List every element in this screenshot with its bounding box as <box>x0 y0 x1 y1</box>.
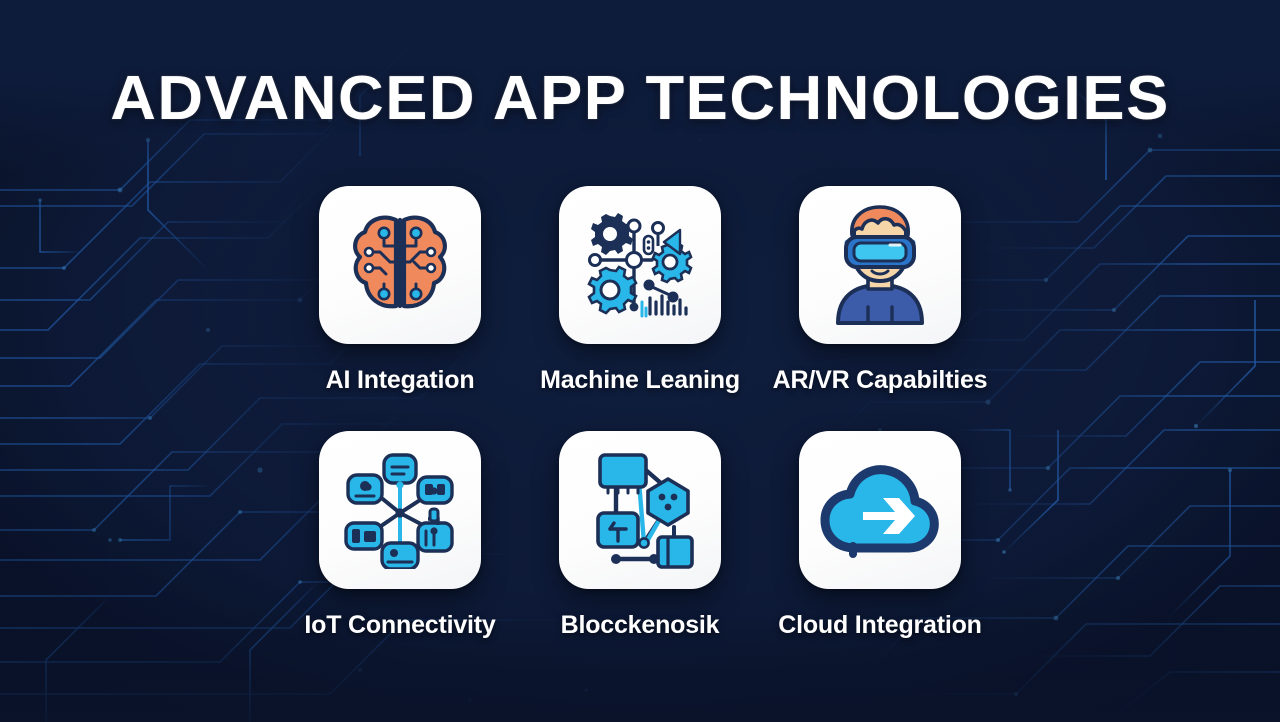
tile-label-iot-connectivity: IoT Connectivity <box>304 611 495 640</box>
tile-machine-learning[interactable]: Machine Leaning <box>558 186 722 431</box>
page-title: ADVANCED APP TECHNOLOGIES <box>0 68 1280 130</box>
tile-label-blockchain: Blocckenosik <box>561 611 720 640</box>
card-blockchain[interactable] <box>559 431 721 589</box>
tile-label-machine-learning: Machine Leaning <box>540 366 740 395</box>
blockchain-nodes-icon <box>582 451 698 569</box>
card-ar-vr[interactable] <box>799 186 961 344</box>
cloud-sync-icon <box>819 460 941 560</box>
card-ai-integration[interactable] <box>319 186 481 344</box>
tile-ar-vr[interactable]: AR/VR Capabilties <box>798 186 962 431</box>
tile-ai-integration[interactable]: AI Integation <box>318 186 482 431</box>
tile-label-cloud-integration: Cloud Integration <box>778 611 982 640</box>
brain-circuit-icon <box>346 206 454 324</box>
tile-label-ai-integration: AI Integation <box>326 366 475 395</box>
card-machine-learning[interactable] <box>559 186 721 344</box>
tile-label-ar-vr: AR/VR Capabilties <box>773 366 988 395</box>
tile-blockchain[interactable]: Blocckenosik <box>558 431 722 676</box>
vr-headset-person-icon <box>824 205 936 325</box>
technology-grid: AI Integation <box>318 186 962 676</box>
tile-iot-connectivity[interactable]: IoT Connectivity <box>318 431 482 676</box>
gears-network-icon <box>582 206 698 324</box>
card-cloud-integration[interactable] <box>799 431 961 589</box>
card-iot-connectivity[interactable] <box>319 431 481 589</box>
iot-device-network-icon <box>342 451 458 569</box>
tile-cloud-integration[interactable]: Cloud Integration <box>798 431 962 676</box>
slide-canvas: ADVANCED APP TECHNOLOGIES <box>0 0 1280 722</box>
